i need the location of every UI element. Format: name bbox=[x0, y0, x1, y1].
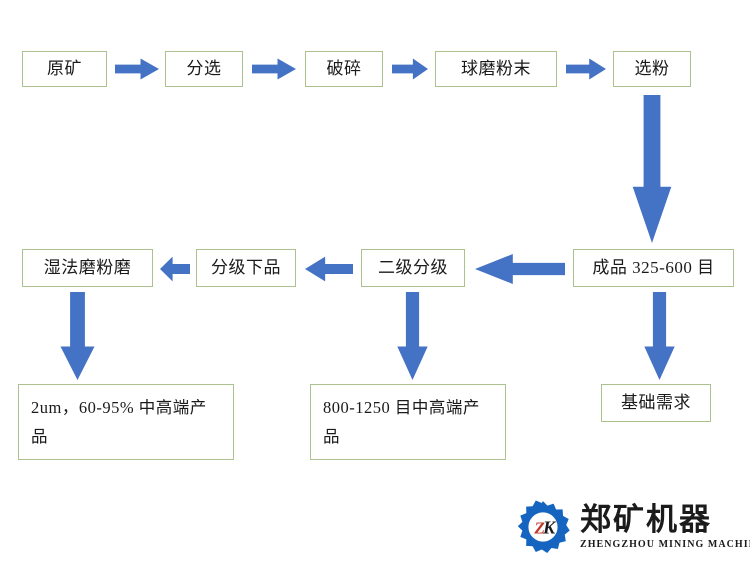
flow-node-product-2um: 2um，60-95% 中高端产品 bbox=[18, 384, 234, 460]
flow-node-powder-selection: 选粉 bbox=[613, 51, 691, 87]
arrow-secondary-grading-to-product-800 bbox=[396, 292, 429, 380]
flow-node-graded-lower: 分级下品 bbox=[196, 249, 296, 287]
logo-monogram-k: K bbox=[542, 517, 557, 537]
logo-company-name-en: ZHENGZHOU MINING MACHINERY bbox=[580, 539, 750, 550]
flow-node-product-800-1250: 800-1250 目中高端产品 bbox=[310, 384, 506, 460]
arrow-ball-mill-to-powder-selection bbox=[566, 57, 606, 81]
flowchart-canvas: 原矿分选破碎球磨粉末选粉成品 325-600 目二级分级分级下品湿法磨粉磨2um… bbox=[0, 0, 750, 562]
arrow-secondary-grading-to-graded-lower bbox=[305, 255, 353, 283]
flow-node-secondary-grading: 二级分级 bbox=[361, 249, 465, 287]
flow-node-crushing: 破碎 bbox=[305, 51, 383, 87]
arrow-sorting-to-crushing bbox=[252, 57, 296, 81]
logo-wordmark: 郑矿机器 ZHENGZHOU MINING MACHINERY bbox=[580, 504, 750, 550]
arrow-finished-to-basic-demand bbox=[643, 292, 676, 380]
arrow-powder-selection-to-finished bbox=[631, 95, 673, 243]
flow-node-ball-mill-powder: 球磨粉末 bbox=[435, 51, 557, 87]
logo-company-name-cn: 郑矿机器 bbox=[580, 504, 750, 537]
arrow-finished-to-secondary-grading bbox=[475, 252, 565, 286]
arrow-raw-ore-to-sorting bbox=[115, 57, 159, 81]
arrow-crushing-to-ball-mill bbox=[392, 57, 428, 81]
arrow-graded-lower-to-wet-grinding bbox=[160, 255, 190, 283]
zk-gear-icon: Z K bbox=[516, 500, 570, 554]
flow-node-basic-demand: 基础需求 bbox=[601, 384, 711, 422]
flow-node-sorting: 分选 bbox=[165, 51, 243, 87]
flow-node-raw-ore: 原矿 bbox=[22, 51, 107, 87]
arrow-wet-grinding-to-product-2um bbox=[59, 292, 96, 380]
flow-node-wet-grinding: 湿法磨粉磨 bbox=[22, 249, 153, 287]
company-logo: Z K 郑矿机器 ZHENGZHOU MINING MACHINERY bbox=[516, 500, 750, 554]
flow-node-finished-product: 成品 325-600 目 bbox=[573, 249, 734, 287]
